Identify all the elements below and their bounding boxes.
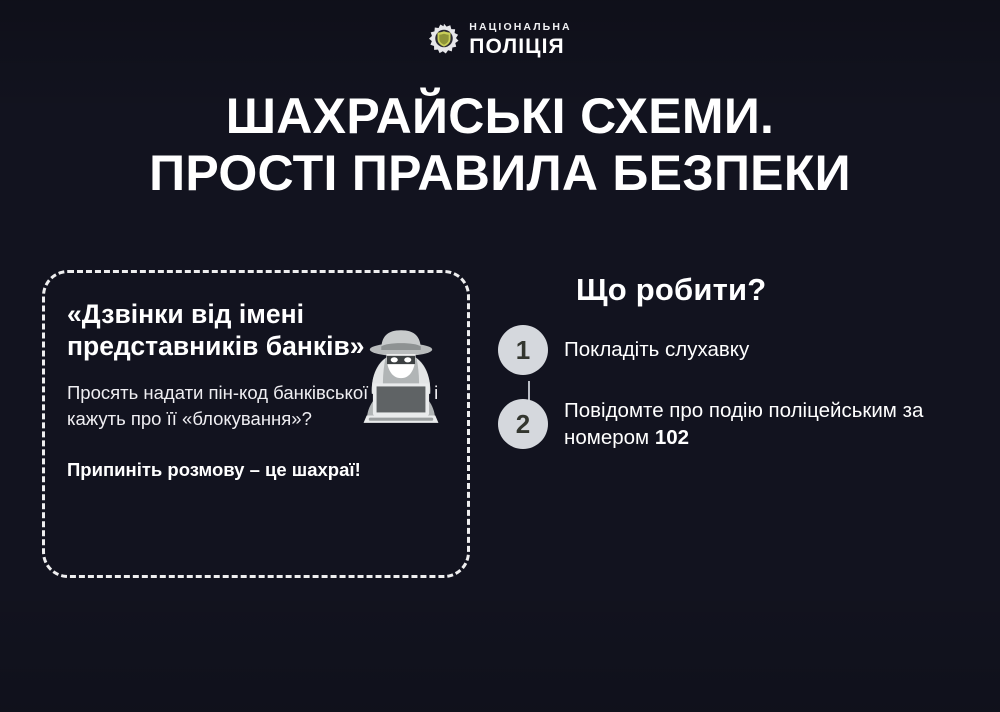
police-star-badge-icon <box>428 23 460 55</box>
step-text: Повідомте про подію поліцейським за номе… <box>564 397 968 452</box>
actions-step-list: 1 Покладіть слухавку 2 Повідомте про под… <box>498 325 968 452</box>
scheme-card: «Дзвінки від імені представників банків»… <box>42 270 470 578</box>
step-number-badge: 2 <box>498 399 548 449</box>
step-text-emphasis: 102 <box>655 426 689 449</box>
step-text-main: Покладіть слухавку <box>564 338 749 361</box>
scheme-card-warning: Припиніть розмову – це шахраї! <box>67 458 441 483</box>
title-line-2: ПРОСТІ ПРАВИЛА БЕЗПЕКИ <box>0 145 1000 202</box>
logo-line-national: НАЦІОНАЛЬНА <box>469 22 571 33</box>
scheme-card-heading: «Дзвінки від імені представників банків» <box>67 299 387 363</box>
step-text: Покладіть слухавку <box>564 336 749 363</box>
logo-line-police: ПОЛІЦІЯ <box>469 36 571 57</box>
step-text-main: Повідомте про подію поліцейським за номе… <box>564 399 923 449</box>
action-step-1: 1 Покладіть слухавку <box>498 325 968 375</box>
action-step-2: 2 Повідомте про подію поліцейським за но… <box>498 397 968 452</box>
step-number-badge: 1 <box>498 325 548 375</box>
logo-wordmark: НАЦІОНАЛЬНА ПОЛІЦІЯ <box>469 22 571 57</box>
page-title: ШАХРАЙСЬКІ СХЕМИ. ПРОСТІ ПРАВИЛА БЕЗПЕКИ <box>0 88 1000 202</box>
actions-heading: Що робити? <box>576 272 968 308</box>
police-logo: НАЦІОНАЛЬНА ПОЛІЦІЯ <box>0 22 1000 57</box>
title-line-1: ШАХРАЙСЬКІ СХЕМИ. <box>0 88 1000 145</box>
infographic-poster: НАЦІОНАЛЬНА ПОЛІЦІЯ ШАХРАЙСЬКІ СХЕМИ. ПР… <box>0 0 1000 712</box>
actions-section: Що робити? 1 Покладіть слухавку 2 Повідо… <box>498 272 968 452</box>
